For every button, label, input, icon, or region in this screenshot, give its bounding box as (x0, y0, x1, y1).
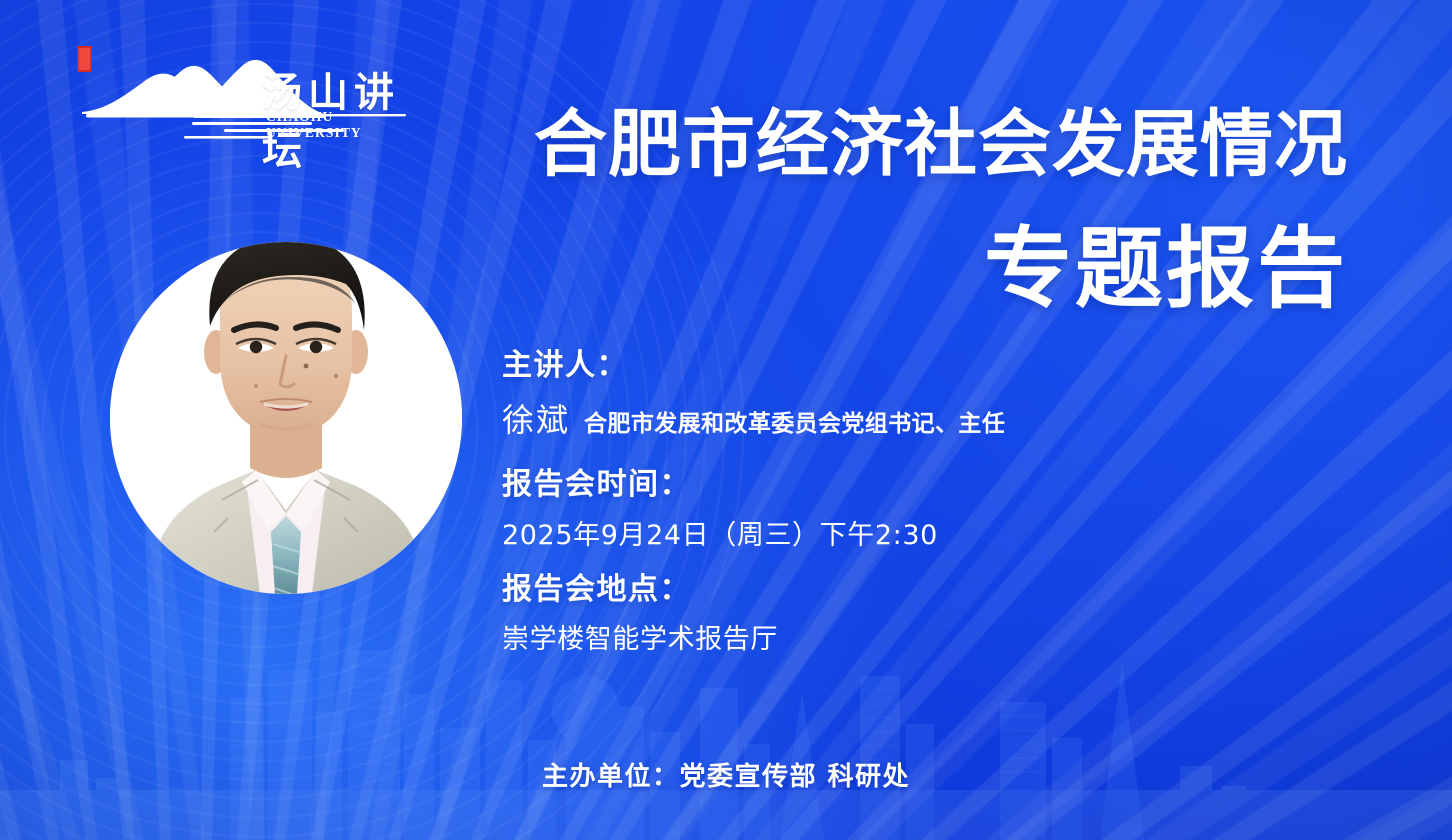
speaker-name: 徐斌 (502, 395, 570, 441)
speaker-label: 主讲人： (502, 348, 1262, 383)
event-poster: 汤山讲坛 CHAOHU UNIVERSITY 合肥市经济社会发展情况 专题报告 (0, 0, 1452, 840)
red-seal-icon (77, 46, 92, 72)
city-skyline-decoration (0, 640, 1452, 840)
spacer (502, 441, 1262, 467)
place-value: 崇学楼智能学术报告厅 (502, 617, 1262, 656)
organizer-line: 主办单位：党委宣传部 科研处 (0, 756, 1452, 793)
portrait-photo (110, 242, 462, 594)
speaker-row: 徐斌 合肥市发展和改革委员会党组书记、主任 (502, 395, 1262, 441)
speaker-title: 合肥市发展和改革委员会党组书记、主任 (584, 404, 1005, 438)
title-line-1: 合肥市经济社会发展情况 (534, 108, 1348, 181)
spacer-2 (502, 552, 1262, 572)
poster-title: 合肥市经济社会发展情况 专题报告 (534, 108, 1348, 313)
time-label: 报告会时间： (502, 467, 1262, 502)
place-label: 报告会地点： (502, 572, 1262, 607)
forum-logo: 汤山讲坛 CHAOHU UNIVERSITY (76, 52, 416, 144)
speaker-portrait (110, 242, 462, 594)
logo-name-en: CHAOHU UNIVERSITY (266, 109, 416, 141)
portrait-circle-mask (110, 242, 462, 594)
title-line-2: 专题报告 (534, 225, 1348, 313)
time-value: 2025年9月24日（周三）下午2:30 (502, 513, 1262, 552)
event-info: 主讲人： 徐斌 合肥市发展和改革委员会党组书记、主任 报告会时间： 2025年9… (502, 348, 1262, 656)
